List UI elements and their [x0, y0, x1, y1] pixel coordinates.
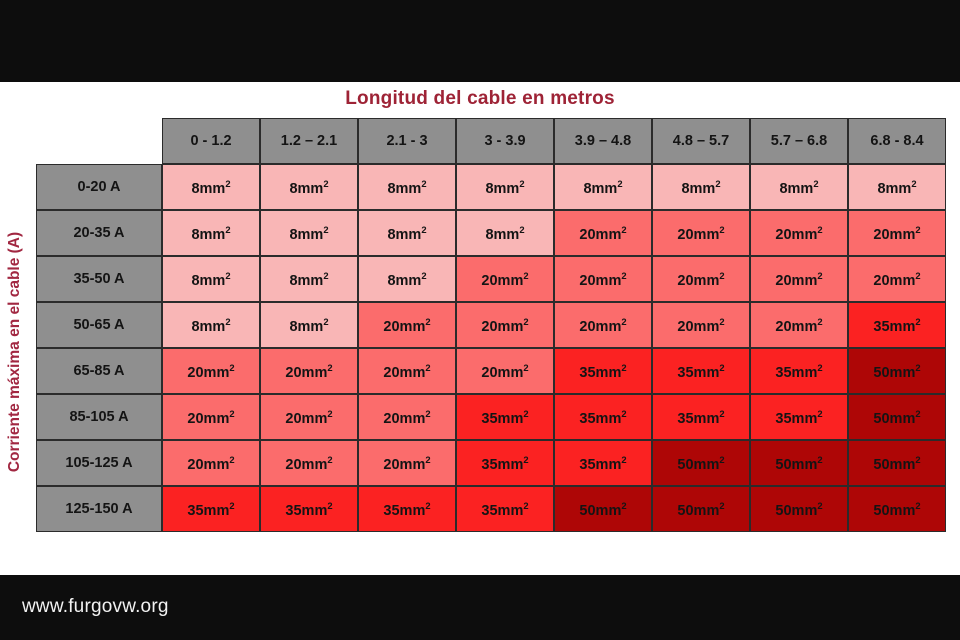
column-header-0: 0 - 1.2	[162, 118, 260, 164]
y-axis-label-text: Corriente máxima en el cable (A)	[6, 232, 24, 472]
column-header-7: 6.8 - 8.4	[848, 118, 946, 164]
cell-r7-c2: 35mm2	[358, 486, 456, 532]
cell-r7-c4: 50mm2	[554, 486, 652, 532]
table-row: 35-50 A8mm28mm28mm220mm220mm220mm220mm22…	[36, 256, 946, 302]
cell-r0-c5: 8mm2	[652, 164, 750, 210]
cell-r2-c5: 20mm2	[652, 256, 750, 302]
table-row: 0-20 A8mm28mm28mm28mm28mm28mm28mm28mm2	[36, 164, 946, 210]
cell-r2-c3: 20mm2	[456, 256, 554, 302]
row-header-6: 105-125 A	[36, 440, 162, 486]
cell-r5-c6: 35mm2	[750, 394, 848, 440]
letterbox-bar-top	[0, 0, 960, 82]
table-header-row: 0 - 1.2 1.2 – 2.1 2.1 - 3 3 - 3.9 3.9 – …	[36, 118, 946, 164]
cell-r1-c4: 20mm2	[554, 210, 652, 256]
cell-r6-c7: 50mm2	[848, 440, 946, 486]
cell-r0-c1: 8mm2	[260, 164, 358, 210]
row-header-5: 85-105 A	[36, 394, 162, 440]
column-header-3: 3 - 3.9	[456, 118, 554, 164]
row-header-3: 50-65 A	[36, 302, 162, 348]
screenshot-root: Longitud del cable en metros Corriente m…	[0, 0, 960, 640]
table-row: 20-35 A8mm28mm28mm28mm220mm220mm220mm220…	[36, 210, 946, 256]
cell-r2-c1: 8mm2	[260, 256, 358, 302]
row-header-0: 0-20 A	[36, 164, 162, 210]
cell-r4-c5: 35mm2	[652, 348, 750, 394]
row-header-4: 65-85 A	[36, 348, 162, 394]
row-header-7: 125-150 A	[36, 486, 162, 532]
table-row: 65-85 A20mm220mm220mm220mm235mm235mm235m…	[36, 348, 946, 394]
cell-r7-c3: 35mm2	[456, 486, 554, 532]
cell-r5-c4: 35mm2	[554, 394, 652, 440]
cell-r0-c2: 8mm2	[358, 164, 456, 210]
cell-r6-c4: 35mm2	[554, 440, 652, 486]
column-header-5: 4.8 – 5.7	[652, 118, 750, 164]
watermark-text: www.furgovw.org	[22, 596, 169, 618]
chart-content-area: Longitud del cable en metros Corriente m…	[0, 82, 960, 575]
cell-r4-c3: 20mm2	[456, 348, 554, 394]
cell-r5-c0: 20mm2	[162, 394, 260, 440]
column-header-2: 2.1 - 3	[358, 118, 456, 164]
cell-r4-c1: 20mm2	[260, 348, 358, 394]
cell-r2-c4: 20mm2	[554, 256, 652, 302]
cell-r1-c6: 20mm2	[750, 210, 848, 256]
y-axis-label: Corriente máxima en el cable (A)	[0, 162, 32, 542]
cell-r4-c6: 35mm2	[750, 348, 848, 394]
wire-gauge-table: 0 - 1.2 1.2 – 2.1 2.1 - 3 3 - 3.9 3.9 – …	[36, 118, 946, 532]
cell-r1-c0: 8mm2	[162, 210, 260, 256]
cell-r1-c1: 8mm2	[260, 210, 358, 256]
cell-r5-c2: 20mm2	[358, 394, 456, 440]
cell-r7-c1: 35mm2	[260, 486, 358, 532]
cell-r2-c2: 8mm2	[358, 256, 456, 302]
cell-r5-c3: 35mm2	[456, 394, 554, 440]
cell-r7-c7: 50mm2	[848, 486, 946, 532]
cell-r0-c0: 8mm2	[162, 164, 260, 210]
cell-r0-c4: 8mm2	[554, 164, 652, 210]
cell-r7-c5: 50mm2	[652, 486, 750, 532]
table-row: 125-150 A35mm235mm235mm235mm250mm250mm25…	[36, 486, 946, 532]
cell-r3-c7: 35mm2	[848, 302, 946, 348]
cell-r4-c4: 35mm2	[554, 348, 652, 394]
table-corner-cell	[36, 118, 162, 164]
row-header-1: 20-35 A	[36, 210, 162, 256]
cell-r4-c0: 20mm2	[162, 348, 260, 394]
cell-r1-c2: 8mm2	[358, 210, 456, 256]
cell-r1-c3: 8mm2	[456, 210, 554, 256]
cell-r2-c6: 20mm2	[750, 256, 848, 302]
cell-r5-c5: 35mm2	[652, 394, 750, 440]
table-header: 0 - 1.2 1.2 – 2.1 2.1 - 3 3 - 3.9 3.9 – …	[36, 118, 946, 164]
cell-r6-c3: 35mm2	[456, 440, 554, 486]
cell-r3-c3: 20mm2	[456, 302, 554, 348]
cell-r3-c4: 20mm2	[554, 302, 652, 348]
cell-r3-c0: 8mm2	[162, 302, 260, 348]
cell-r3-c1: 8mm2	[260, 302, 358, 348]
cell-r3-c6: 20mm2	[750, 302, 848, 348]
column-header-4: 3.9 – 4.8	[554, 118, 652, 164]
table-row: 105-125 A20mm220mm220mm235mm235mm250mm25…	[36, 440, 946, 486]
cell-r6-c2: 20mm2	[358, 440, 456, 486]
cell-r4-c7: 50mm2	[848, 348, 946, 394]
cell-r0-c3: 8mm2	[456, 164, 554, 210]
cell-r6-c1: 20mm2	[260, 440, 358, 486]
cell-r0-c6: 8mm2	[750, 164, 848, 210]
cell-r5-c7: 50mm2	[848, 394, 946, 440]
cell-r1-c7: 20mm2	[848, 210, 946, 256]
cell-r6-c5: 50mm2	[652, 440, 750, 486]
cell-r5-c1: 20mm2	[260, 394, 358, 440]
cell-r0-c7: 8mm2	[848, 164, 946, 210]
cell-r7-c0: 35mm2	[162, 486, 260, 532]
table-row: 85-105 A20mm220mm220mm235mm235mm235mm235…	[36, 394, 946, 440]
cell-r2-c0: 8mm2	[162, 256, 260, 302]
cell-r2-c7: 20mm2	[848, 256, 946, 302]
cell-r6-c0: 20mm2	[162, 440, 260, 486]
column-header-6: 5.7 – 6.8	[750, 118, 848, 164]
table-body: 0-20 A8mm28mm28mm28mm28mm28mm28mm28mm220…	[36, 164, 946, 532]
column-header-1: 1.2 – 2.1	[260, 118, 358, 164]
table-row: 50-65 A8mm28mm220mm220mm220mm220mm220mm2…	[36, 302, 946, 348]
cell-r3-c2: 20mm2	[358, 302, 456, 348]
cell-r7-c6: 50mm2	[750, 486, 848, 532]
cell-r3-c5: 20mm2	[652, 302, 750, 348]
cell-r1-c5: 20mm2	[652, 210, 750, 256]
cell-r6-c6: 50mm2	[750, 440, 848, 486]
row-header-2: 35-50 A	[36, 256, 162, 302]
chart-title: Longitud del cable en metros	[0, 88, 960, 110]
cell-r4-c2: 20mm2	[358, 348, 456, 394]
